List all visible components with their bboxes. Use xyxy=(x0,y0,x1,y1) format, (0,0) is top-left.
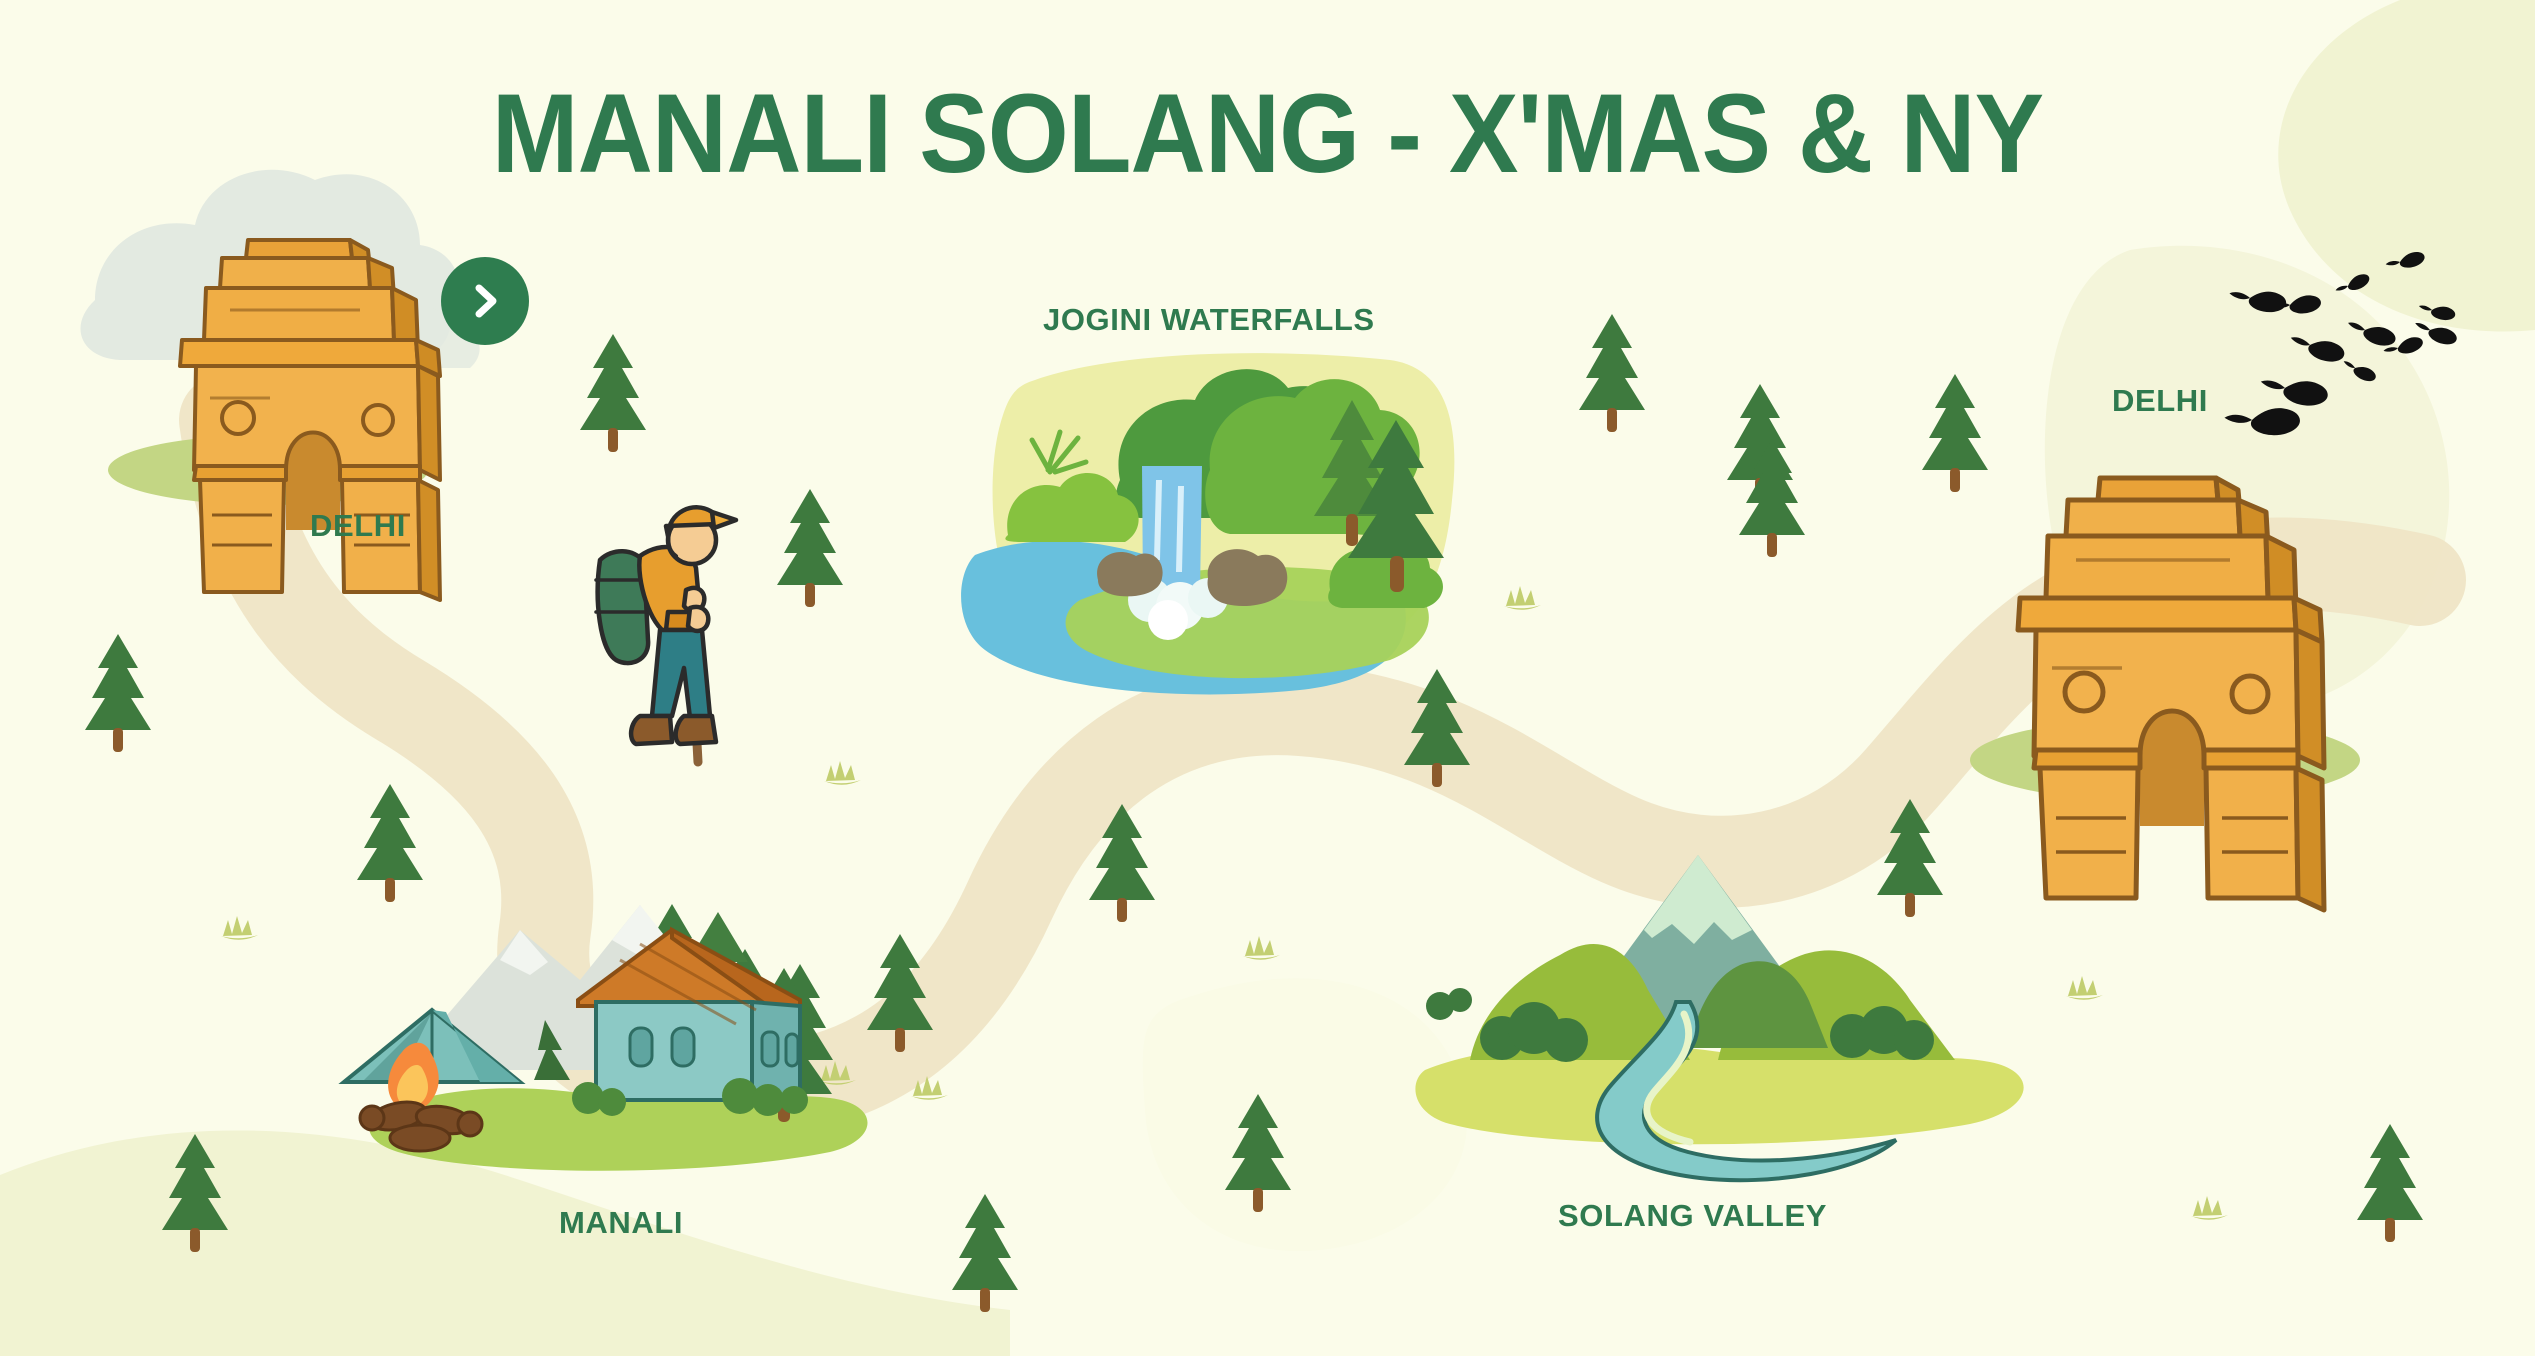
bird-icon xyxy=(2288,333,2347,364)
place-label-delhi-origin: DELHI xyxy=(310,508,406,544)
next-button[interactable] xyxy=(441,257,529,345)
place-label-solang-valley: SOLANG VALLEY xyxy=(1558,1198,1827,1234)
bird-icon xyxy=(2340,359,2378,384)
chevron-right-icon xyxy=(463,279,507,323)
bird-icon xyxy=(2385,249,2427,275)
bird-icon xyxy=(2228,289,2287,313)
bird-icon xyxy=(2334,271,2372,299)
bird-icon xyxy=(2224,407,2301,439)
bird-flock xyxy=(0,0,2535,1356)
bird-icon xyxy=(2417,303,2456,321)
place-label-jogini-waterfalls: JOGINI WATERFALLS xyxy=(1043,302,1375,338)
itinerary-map-poster: MANALI SOLANG - X'MAS & NY DELHI JOGINI … xyxy=(0,0,2535,1356)
place-label-manali: MANALI xyxy=(559,1205,683,1241)
bird-silhouettes xyxy=(2224,249,2459,438)
bird-icon xyxy=(2345,319,2398,348)
bird-icon xyxy=(2259,376,2329,407)
page-title: MANALI SOLANG - X'MAS & NY xyxy=(89,78,2447,190)
place-label-delhi-return: DELHI xyxy=(2112,383,2208,419)
